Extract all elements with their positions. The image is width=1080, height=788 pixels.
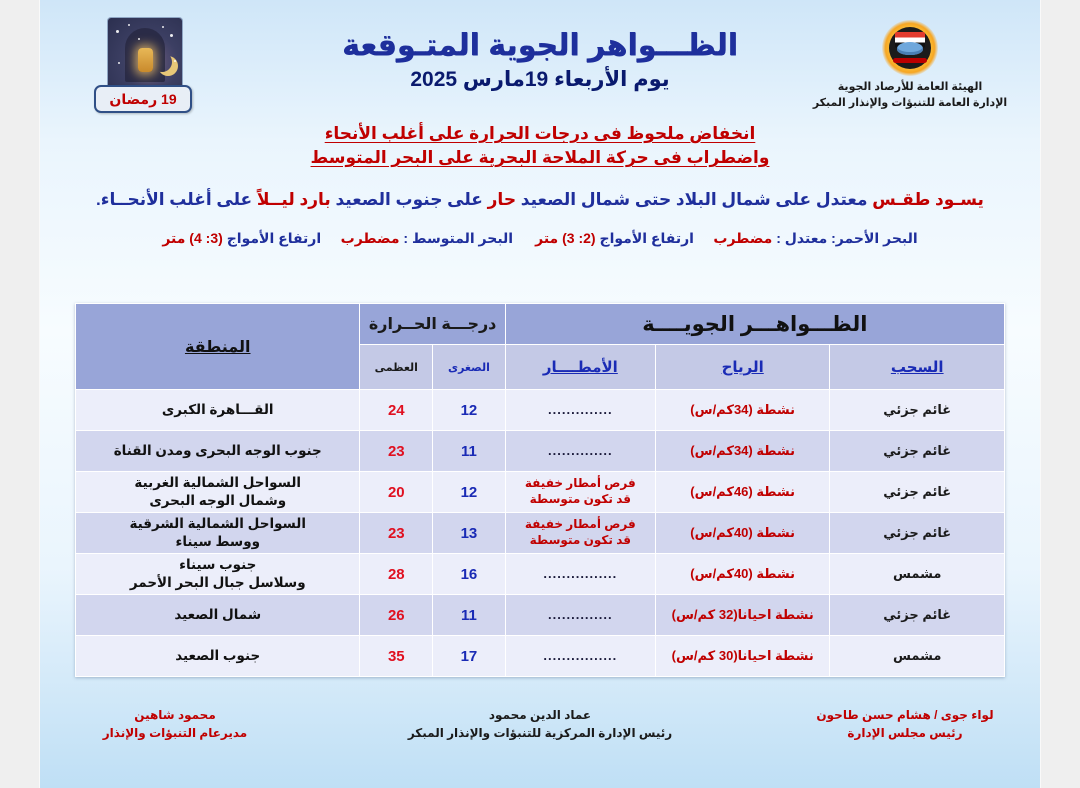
cell-rain: .............. bbox=[506, 595, 655, 635]
mediterranean-conditions: البحر المتوسط : مضطرب ارتفاع الأمواج (3:… bbox=[162, 230, 513, 247]
mediterranean-state: مضطرب bbox=[341, 230, 400, 246]
cell-temp-min: 16 bbox=[433, 554, 505, 594]
red-sea-conditions: البحر الأحمر: معتدل : مضطرب ارتفاع الأمو… bbox=[535, 230, 918, 247]
table-row: غائم جزئينشطة (46كم/س)فرص أمطار خفيفةقد … bbox=[76, 472, 1004, 512]
authority-logo-block: الهيئة العامة للأرصاد الجوية الإدارة الع… bbox=[810, 20, 1010, 112]
cell-temp-max: 28 bbox=[360, 554, 432, 594]
weather-summary: يسـود طقـس معتدل على شمال البلاد حتى شما… bbox=[40, 190, 1040, 210]
cell-temp-max: 23 bbox=[360, 431, 432, 471]
forecast-director-title: مديرعام التنبؤات والإنذار bbox=[75, 724, 275, 742]
forecast-page: 19 رمضان الظـــواهر الجوية المتـوقعة يوم… bbox=[40, 0, 1040, 788]
cell-temp-max: 23 bbox=[360, 513, 432, 553]
cell-region: جنوب الوجه البحرى ومدن القناة bbox=[76, 431, 359, 471]
cell-temp-min: 17 bbox=[433, 636, 505, 676]
forecast-table: الظـــواهـــر الجويــــة درجـــة الحــرا… bbox=[75, 303, 1005, 677]
cell-temp-max: 24 bbox=[360, 390, 432, 430]
cell-region: جنوب سيناءوسلاسل جبال البحر الأحمر bbox=[76, 554, 359, 594]
cell-wind: نشطة (46كم/س) bbox=[656, 472, 830, 512]
table-row: مشمسنشطة (40كم/س)................1628جنو… bbox=[76, 554, 1004, 594]
table-row: مشمسنشطة احيانا(30 كم/س)................… bbox=[76, 636, 1004, 676]
cell-temp-max: 20 bbox=[360, 472, 432, 512]
page-header: 19 رمضان الظـــواهر الجوية المتـوقعة يوم… bbox=[40, 0, 1040, 120]
forecast-table-body: غائم جزئينشطة (34كم/س)..............1224… bbox=[76, 390, 1004, 676]
summary-part-5: بارد ليــلاً bbox=[252, 190, 331, 209]
table-header-row-top: الظـــواهـــر الجويــــة درجـــة الحــرا… bbox=[76, 304, 1004, 344]
cell-wind: نشطة (40كم/س) bbox=[656, 554, 830, 594]
cell-rain: ................ bbox=[506, 636, 655, 676]
sea-conditions: البحر الأحمر: معتدل : مضطرب ارتفاع الأمو… bbox=[40, 230, 1040, 247]
forecast-director-name: محمود شاهين bbox=[75, 706, 275, 724]
cell-temp-min: 12 bbox=[433, 472, 505, 512]
cell-temp-min: 11 bbox=[433, 431, 505, 471]
header-temperature: درجـــة الحــرارة bbox=[360, 304, 504, 344]
table-row: غائم جزئينشطة (34كم/س)..............1224… bbox=[76, 390, 1004, 430]
summary-part-2: معتدل على شمال البلاد حتى شمال الصعيد bbox=[516, 190, 867, 209]
cell-wind: نشطة احيانا(30 كم/س) bbox=[656, 636, 830, 676]
red-sea-label: البحر الأحمر: معتدل : bbox=[776, 230, 918, 246]
chairman-title: رئيس مجلس الإدارة bbox=[805, 724, 1005, 742]
header-temp-min: الصغرى bbox=[433, 345, 505, 389]
cell-cloud: غائم جزئي bbox=[830, 472, 1004, 512]
red-sea-wave-label: ارتفاع الأمواج bbox=[599, 230, 693, 246]
header-temp-max: العظمى bbox=[360, 345, 432, 389]
warning-line-temperature: انخفاض ملحوظ فى درجات الحرارة على أغلب ا… bbox=[40, 124, 1040, 144]
cell-temp-min: 11 bbox=[433, 595, 505, 635]
cell-wind: نشطة (34كم/س) bbox=[656, 431, 830, 471]
header-phenomena: الظـــواهـــر الجويــــة bbox=[506, 304, 1004, 344]
cell-temp-min: 13 bbox=[433, 513, 505, 553]
cell-cloud: غائم جزئي bbox=[830, 431, 1004, 471]
cell-temp-max: 26 bbox=[360, 595, 432, 635]
table-row: غائم جزئينشطة (40كم/س)فرص أمطار خفيفةقد … bbox=[76, 513, 1004, 553]
cell-wind: نشطة (40كم/س) bbox=[656, 513, 830, 553]
header-clouds: السحب bbox=[830, 345, 1004, 389]
cell-rain: ................ bbox=[506, 554, 655, 594]
cell-temp-max: 35 bbox=[360, 636, 432, 676]
summary-part-6: على أغلب الأنحــاء. bbox=[96, 190, 252, 209]
cell-cloud: مشمس bbox=[830, 554, 1004, 594]
cell-region: السواحل الشمالية الغربيةوشمال الوجه البح… bbox=[76, 472, 359, 512]
cell-region: السواحل الشمالية الشرقيةووسط سيناء bbox=[76, 513, 359, 553]
summary-part-1: يسـود طقـس bbox=[868, 190, 984, 209]
ramadan-day-label: 19 رمضان bbox=[109, 91, 176, 108]
cell-rain: .............. bbox=[506, 431, 655, 471]
header-wind: الرياح bbox=[656, 345, 830, 389]
cell-wind: نشطة احيانا(32 كم/س) bbox=[656, 595, 830, 635]
cell-cloud: غائم جزئي bbox=[830, 595, 1004, 635]
cell-cloud: غائم جزئي bbox=[830, 390, 1004, 430]
egypt-meteorological-authority-logo-icon bbox=[882, 20, 938, 76]
cell-rain: فرص أمطار خفيفةقد تكون متوسطة bbox=[506, 472, 655, 512]
cell-region: القـــاهرة الكبرى bbox=[76, 390, 359, 430]
authority-department: الإدارة العامة للتنبؤات والإنذار المبكر bbox=[810, 96, 1010, 112]
cell-rain: .............. bbox=[506, 390, 655, 430]
warning-line-marine: واضطراب فى حركة الملاحة البحرية على البح… bbox=[40, 148, 1040, 168]
mediterranean-wave-label: ارتفاع الأمواج bbox=[227, 230, 321, 246]
table-row: غائم جزئينشطة (34كم/س)..............1123… bbox=[76, 431, 1004, 471]
cell-temp-min: 12 bbox=[433, 390, 505, 430]
table-row: غائم جزئينشطة احيانا(32 كم/س)...........… bbox=[76, 595, 1004, 635]
cell-region: شمال الصعيد bbox=[76, 595, 359, 635]
cell-cloud: مشمس bbox=[830, 636, 1004, 676]
header-rain: الأمطــــار bbox=[506, 345, 655, 389]
cell-cloud: غائم جزئي bbox=[830, 513, 1004, 553]
cell-region: جنوب الصعيد bbox=[76, 636, 359, 676]
central-director-title: رئيس الإدارة المركزية للتنبؤات والإنذار … bbox=[408, 724, 672, 742]
mediterranean-label: البحر المتوسط : bbox=[403, 230, 513, 246]
chairman-name: لواء جوى / هشام حسن طاحون bbox=[805, 706, 1005, 724]
red-sea-wave-value: (2: 3) متر bbox=[535, 230, 595, 246]
header-region: المنطقة bbox=[76, 304, 359, 389]
signature-central-director: عماد الدين محمود رئيس الإدارة المركزية ل… bbox=[408, 706, 672, 742]
summary-part-3: حار bbox=[483, 190, 516, 209]
authority-name: الهيئة العامة للأرصاد الجوية bbox=[810, 80, 1010, 96]
summary-part-4: على جنوب الصعيد bbox=[331, 190, 483, 209]
red-sea-state: مضطرب bbox=[713, 230, 772, 246]
central-director-name: عماد الدين محمود bbox=[408, 706, 672, 724]
mediterranean-wave-value: (3: 4) متر bbox=[162, 230, 222, 246]
page-footer: لواء جوى / هشام حسن طاحون رئيس مجلس الإد… bbox=[75, 706, 1005, 742]
signature-chairman: لواء جوى / هشام حسن طاحون رئيس مجلس الإد… bbox=[805, 706, 1005, 742]
cell-rain: فرص أمطار خفيفةقد تكون متوسطة bbox=[506, 513, 655, 553]
signature-forecast-director: محمود شاهين مديرعام التنبؤات والإنذار bbox=[75, 706, 275, 742]
cell-wind: نشطة (34كم/س) bbox=[656, 390, 830, 430]
